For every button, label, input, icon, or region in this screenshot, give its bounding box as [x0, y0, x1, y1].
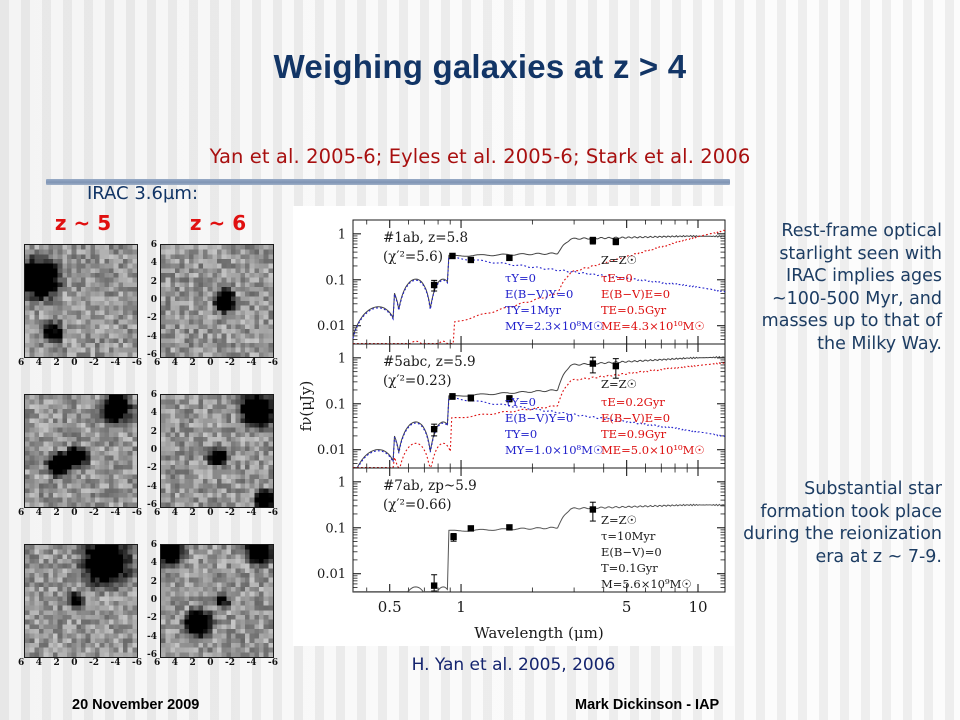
stamp-x-tick: 0 — [207, 658, 213, 668]
stamp-y-tick: 0 — [151, 295, 157, 305]
figure-text: 0.01 — [317, 443, 346, 458]
postage-stamp-cell: 6420-2-4-6 — [8, 544, 138, 692]
figure-text: Z=Z☉ — [601, 253, 637, 267]
stamp-x-tick: 2 — [54, 508, 60, 518]
stamp-y-tick: 6 — [151, 390, 157, 400]
stamp-x-tick: -6 — [132, 508, 142, 518]
stamp-x-tick: 6 — [18, 358, 24, 368]
figure-text: TY=0 — [505, 427, 537, 441]
stamp-x-tick: 6 — [18, 658, 24, 668]
stamp-x-tick: -4 — [246, 508, 256, 518]
stamp-x-axis-ticks: 6420-2-4-6 — [154, 358, 278, 368]
sed-data-point — [468, 257, 474, 263]
stamp-x-tick: 6 — [18, 508, 24, 518]
figure-text: Wavelength (μm) — [474, 624, 603, 642]
figure-text: #7ab, zp~5.9 — [383, 478, 477, 494]
postage-stamp-image — [160, 244, 274, 358]
stamp-x-tick: 0 — [71, 658, 77, 668]
stamp-y-tick: -6 — [147, 650, 157, 660]
stamp-x-tick: 2 — [54, 658, 60, 668]
figure-text: 1 — [456, 598, 466, 616]
stamp-x-tick: -4 — [110, 508, 120, 518]
stamp-x-tick: 2 — [190, 358, 196, 368]
references-subtitle: Yan et al. 2005-6; Eyles et al. 2005-6; … — [0, 145, 960, 168]
figure-text: ME=4.3×10¹⁰M☉ — [601, 319, 705, 333]
stamp-x-tick: 4 — [36, 358, 42, 368]
sed-data-point — [506, 255, 512, 261]
postage-stamp-image — [24, 244, 138, 358]
postage-stamp-image — [24, 544, 138, 658]
sed-figure-svg: 10.10.01#1ab, z=5.8(χ′²=5.6)Z=Z☉τY=0τE=0… — [293, 206, 734, 646]
figure-text: 1 — [338, 227, 346, 242]
sed-data-point — [468, 395, 474, 401]
figure-text: τ=10Myr — [601, 529, 656, 543]
postage-stamp-cell: 6420-2-4-66420-2-4-6 — [144, 394, 274, 542]
sed-data-point — [450, 534, 456, 542]
figure-text: 0.1 — [325, 273, 346, 288]
stamp-y-tick: -2 — [147, 463, 157, 473]
figure-text: MY=2.3×10⁸M☉ — [505, 319, 603, 333]
stamp-y-axis-ticks: 6420-2-4-6 — [143, 240, 157, 360]
sed-data-point — [613, 238, 619, 244]
stamp-y-tick: -2 — [147, 313, 157, 323]
stamp-column-header-z5: z ~ 5 — [18, 211, 148, 235]
figure-text: E(B−V)Y=0 — [505, 287, 573, 301]
stamp-x-axis-ticks: 6420-2-4-6 — [18, 658, 142, 668]
figure-text: (χ′²=0.23) — [383, 373, 452, 389]
stamp-y-tick: -4 — [147, 482, 157, 492]
figure-text: TY=1Myr — [505, 303, 561, 317]
figure-text: 1 — [338, 351, 346, 366]
stamp-y-tick: 2 — [151, 427, 157, 437]
stamp-x-tick: 4 — [172, 658, 178, 668]
stamp-x-tick: 4 — [36, 658, 42, 668]
sed-data-point — [449, 393, 455, 399]
figure-text: (χ′²=0.66) — [383, 497, 452, 513]
figure-text: TE=0.5Gyr — [601, 303, 667, 317]
figure-text: 10 — [688, 598, 707, 616]
postage-stamp-grid: 6420-2-4-66420-2-4-66420-2-4-66420-2-4-6… — [8, 244, 290, 712]
stamp-x-tick: 0 — [207, 358, 213, 368]
stamp-x-tick: -2 — [89, 358, 99, 368]
figure-text: TE=0.9Gyr — [601, 427, 667, 441]
stamp-y-tick: -6 — [147, 500, 157, 510]
irac-band-label: IRAC 3.6µm: — [0, 183, 285, 204]
commentary-paragraph-1: Rest-frame optical starlight seen with I… — [737, 220, 942, 355]
figure-text: τE=0 — [601, 271, 633, 285]
figure-text: τY=0 — [505, 395, 536, 409]
stamp-y-tick: 6 — [151, 540, 157, 550]
stamp-x-tick: -2 — [225, 358, 235, 368]
postage-stamp-cell: 6420-2-4-6 — [8, 394, 138, 542]
stamp-x-axis-ticks: 6420-2-4-6 — [18, 358, 142, 368]
stamp-y-axis-ticks: 6420-2-4-6 — [143, 390, 157, 510]
postage-stamp-image — [24, 394, 138, 508]
postage-stamp-cell: 6420-2-4-6 — [8, 244, 138, 392]
stamp-y-tick: -6 — [147, 350, 157, 360]
stamp-y-tick: -4 — [147, 332, 157, 342]
stamp-x-tick: -6 — [132, 658, 142, 668]
figure-text: ME=5.0×10¹⁰M☉ — [601, 443, 705, 457]
stamp-x-tick: 0 — [71, 508, 77, 518]
stamp-x-tick: 4 — [36, 508, 42, 518]
stamp-x-tick: -6 — [132, 358, 142, 368]
figure-text: 0.1 — [325, 521, 346, 536]
stamp-x-tick: -6 — [268, 508, 278, 518]
stamp-x-tick: -4 — [110, 658, 120, 668]
figure-caption: H. Yan et al. 2005, 2006 — [293, 655, 734, 675]
stamp-x-tick: 2 — [54, 358, 60, 368]
figure-text: (χ′²=5.6) — [383, 249, 443, 265]
figure-text: T=0.1Gyr — [601, 561, 658, 575]
sed-data-point — [590, 237, 596, 244]
figure-text: E(B−V)Y=0 — [505, 411, 573, 425]
stamp-y-tick: 0 — [151, 595, 157, 605]
figure-text: 0.1 — [325, 397, 346, 412]
stamp-x-axis-ticks: 6420-2-4-6 — [154, 508, 278, 518]
sed-data-point — [506, 524, 512, 530]
sed-data-point — [449, 253, 455, 259]
stamp-x-tick: -2 — [89, 658, 99, 668]
stamp-x-tick: -2 — [89, 508, 99, 518]
stamp-x-tick: 0 — [71, 358, 77, 368]
figure-text: E(B−V)E=0 — [601, 287, 670, 301]
figure-text: #5abc, z=5.9 — [383, 354, 476, 370]
stamp-column-header-z6: z ~ 6 — [148, 211, 288, 235]
stamp-x-tick: 2 — [190, 658, 196, 668]
stamp-x-tick: -6 — [268, 658, 278, 668]
stamp-x-tick: 4 — [172, 508, 178, 518]
stamp-x-tick: 0 — [207, 508, 213, 518]
postage-stamp-cell: 6420-2-4-66420-2-4-6 — [144, 244, 274, 392]
stamp-y-tick: 2 — [151, 577, 157, 587]
stamp-y-tick: 6 — [151, 240, 157, 250]
stamp-y-tick: 4 — [151, 258, 157, 268]
stamp-y-tick: 4 — [151, 408, 157, 418]
stamp-y-tick: 0 — [151, 445, 157, 455]
figure-text: MY=1.0×10⁸M☉ — [505, 443, 603, 457]
figure-text: 0.01 — [317, 567, 346, 582]
footer-date: 20 November 2009 — [72, 697, 199, 713]
stamp-x-tick: -2 — [225, 658, 235, 668]
stamp-x-tick: -2 — [225, 508, 235, 518]
footer-author: Mark Dickinson - IAP — [575, 697, 719, 713]
postage-stamp-image — [160, 544, 274, 658]
figure-text: 5 — [622, 598, 632, 616]
commentary-paragraph-2: Substantial star formation took place du… — [737, 478, 942, 568]
postage-stamp-image — [160, 394, 274, 508]
stamp-y-axis-ticks: 6420-2-4-6 — [143, 540, 157, 660]
figure-text: 1 — [338, 475, 346, 490]
figure-text: E(B−V)E=0 — [601, 411, 670, 425]
stamp-x-tick: -6 — [268, 358, 278, 368]
stamp-x-tick: 4 — [172, 358, 178, 368]
sed-y-axis-label: fν(μJy) — [297, 381, 315, 432]
figure-text: Z=Z☉ — [601, 513, 637, 527]
figure-text: E(B−V)=0 — [601, 545, 662, 559]
stamp-x-axis-ticks: 6420-2-4-6 — [18, 508, 142, 518]
page-title: Weighing galaxies at z > 4 — [0, 48, 960, 86]
figure-text: #1ab, z=5.8 — [383, 230, 468, 246]
figure-text: τE=0.2Gyr — [601, 395, 665, 409]
stamp-x-tick: 2 — [190, 508, 196, 518]
stamp-y-tick: -2 — [147, 613, 157, 623]
figure-text: τY=0 — [505, 271, 536, 285]
stamp-y-tick: 2 — [151, 277, 157, 287]
slide-root: Weighing galaxies at z > 4 Yan et al. 20… — [0, 0, 960, 720]
figure-text: M=5.6×10⁹M☉ — [601, 577, 692, 591]
stamp-x-axis-ticks: 6420-2-4-6 — [154, 658, 278, 668]
sed-figure-panel: 10.10.01#1ab, z=5.8(χ′²=5.6)Z=Z☉τY=0τE=0… — [293, 206, 734, 646]
sed-data-point — [468, 525, 474, 531]
figure-text: 0.01 — [317, 319, 346, 334]
postage-stamp-cell: 6420-2-4-66420-2-4-6 — [144, 544, 274, 692]
stamp-y-tick: -4 — [147, 632, 157, 642]
figure-text: 0.5 — [378, 598, 402, 616]
stamp-x-tick: -4 — [246, 358, 256, 368]
stamp-x-tick: -4 — [246, 658, 256, 668]
stamp-y-tick: 4 — [151, 558, 157, 568]
stamp-x-tick: -4 — [110, 358, 120, 368]
figure-text: Z=Z☉ — [601, 377, 637, 391]
